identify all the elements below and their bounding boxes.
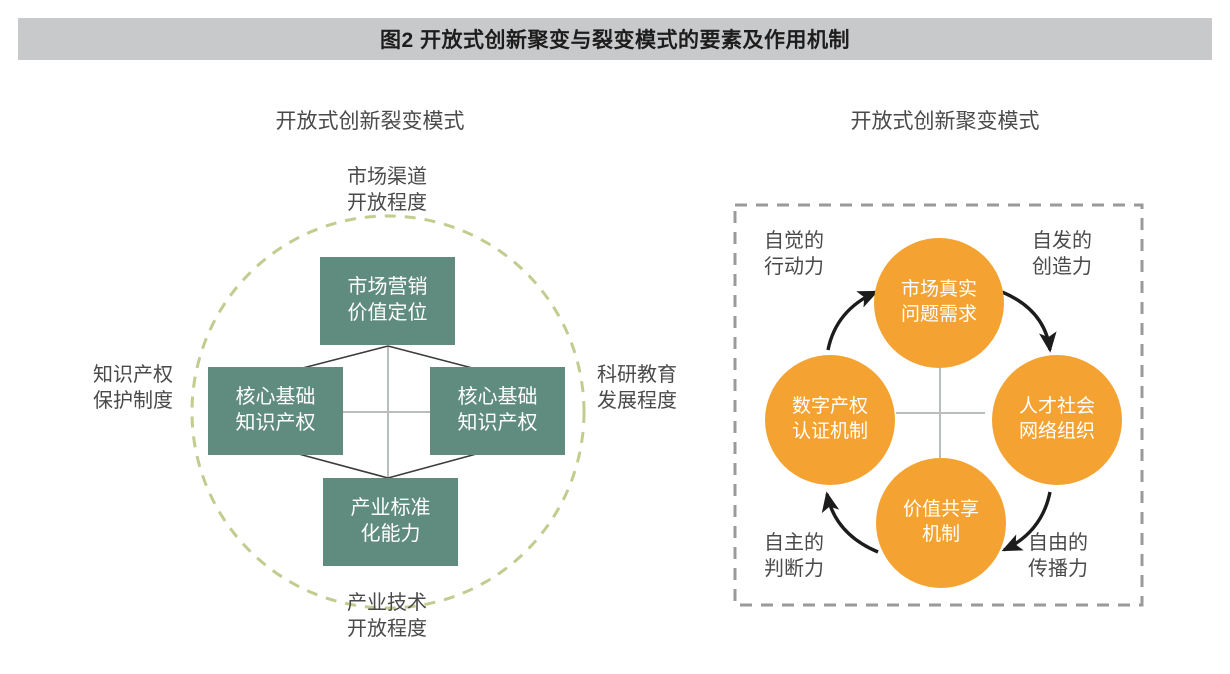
arrow-left-to-top	[828, 292, 876, 350]
box-core-ip-left-line2: 知识产权	[236, 411, 316, 437]
label-market-channel-openness-line1: 市场渠道	[312, 164, 462, 190]
circle-digital-ip-certification-line2: 认证机制	[792, 420, 868, 445]
connector-left-bottom	[295, 453, 388, 478]
fusion-model-diagram: 市场真实 问题需求 人才社会 网络组织 价值共享 机制 数字产权 认证机制 自觉…	[730, 200, 1155, 620]
figure-caption-text: 图2 开放式创新聚变与裂变模式的要素及作用机制	[380, 24, 850, 54]
circle-value-sharing-mechanism-line2: 机制	[922, 523, 960, 548]
box-marketing-value-line1: 市场营销	[348, 275, 428, 301]
label-industry-tech-openness: 产业技术 开放程度	[312, 590, 462, 642]
box-marketing-value[interactable]: 市场营销 价值定位	[320, 257, 455, 345]
label-ip-protection-system-line1: 知识产权	[68, 362, 198, 388]
label-spontaneous-creativity-line2: 创造力	[1032, 254, 1092, 280]
box-core-ip-right[interactable]: 核心基础 知识产权	[430, 367, 565, 455]
label-industry-tech-openness-line2: 开放程度	[312, 616, 462, 642]
box-core-ip-left[interactable]: 核心基础 知识产权	[208, 367, 343, 455]
label-ip-protection-system: 知识产权 保护制度	[68, 362, 198, 414]
circle-real-market-demand-line2: 问题需求	[901, 303, 977, 328]
figure-caption-bar: 图2 开放式创新聚变与裂变模式的要素及作用机制	[18, 18, 1212, 60]
connector-right-bottom	[388, 453, 480, 478]
circle-real-market-demand-line1: 市场真实	[901, 278, 977, 303]
arrow-top-to-right	[1002, 292, 1050, 350]
circle-talent-social-network[interactable]: 人才社会 网络组织	[992, 355, 1122, 485]
circle-talent-social-network-line2: 网络组织	[1019, 420, 1095, 445]
label-research-education-development: 科研教育 发展程度	[572, 362, 702, 414]
box-core-ip-left-line1: 核心基础	[236, 385, 316, 411]
label-conscious-action-power-line2: 行动力	[764, 254, 824, 280]
box-industry-standard-line2: 化能力	[361, 522, 421, 548]
label-market-channel-openness: 市场渠道 开放程度	[312, 164, 462, 216]
circle-talent-social-network-line1: 人才社会	[1019, 395, 1095, 420]
figure-page: 图2 开放式创新聚变与裂变模式的要素及作用机制 开放式创新裂变模式 开放式创新聚…	[0, 0, 1230, 674]
circle-value-sharing-mechanism-line1: 价值共享	[903, 498, 979, 523]
label-spontaneous-creativity-line1: 自发的	[1032, 228, 1092, 254]
right-panel-title: 开放式创新聚变模式	[730, 105, 1160, 135]
arrow-bottom-to-left	[827, 494, 878, 552]
label-free-dissemination: 自由的 传播力	[1028, 530, 1088, 582]
label-free-dissemination-line2: 传播力	[1028, 556, 1088, 582]
label-autonomous-judgement-line2: 判断力	[764, 556, 824, 582]
box-core-ip-right-line1: 核心基础	[458, 385, 538, 411]
label-industry-tech-openness-line1: 产业技术	[312, 590, 462, 616]
label-market-channel-openness-line2: 开放程度	[312, 190, 462, 216]
fission-model-diagram: 市场营销 价值定位 核心基础 知识产权 核心基础 知识产权 产业标准 化能力 市…	[40, 150, 700, 650]
box-industry-standard[interactable]: 产业标准 化能力	[323, 478, 458, 566]
box-marketing-value-line2: 价值定位	[348, 301, 428, 327]
label-autonomous-judgement: 自主的 判断力	[764, 530, 824, 582]
label-free-dissemination-line1: 自由的	[1028, 530, 1088, 556]
box-core-ip-right-line2: 知识产权	[458, 411, 538, 437]
label-spontaneous-creativity: 自发的 创造力	[1032, 228, 1092, 280]
circle-real-market-demand[interactable]: 市场真实 问题需求	[874, 238, 1004, 368]
box-industry-standard-line1: 产业标准	[351, 496, 431, 522]
circle-digital-ip-certification-line1: 数字产权	[792, 395, 868, 420]
label-conscious-action-power-line1: 自觉的	[764, 228, 824, 254]
label-research-education-development-line1: 科研教育	[572, 362, 702, 388]
circle-value-sharing-mechanism[interactable]: 价值共享 机制	[876, 458, 1006, 588]
left-panel-title: 开放式创新裂变模式	[140, 105, 600, 135]
label-conscious-action-power: 自觉的 行动力	[764, 228, 824, 280]
label-autonomous-judgement-line1: 自主的	[764, 530, 824, 556]
circle-digital-ip-certification[interactable]: 数字产权 认证机制	[765, 355, 895, 485]
label-research-education-development-line2: 发展程度	[572, 388, 702, 414]
label-ip-protection-system-line2: 保护制度	[68, 388, 198, 414]
